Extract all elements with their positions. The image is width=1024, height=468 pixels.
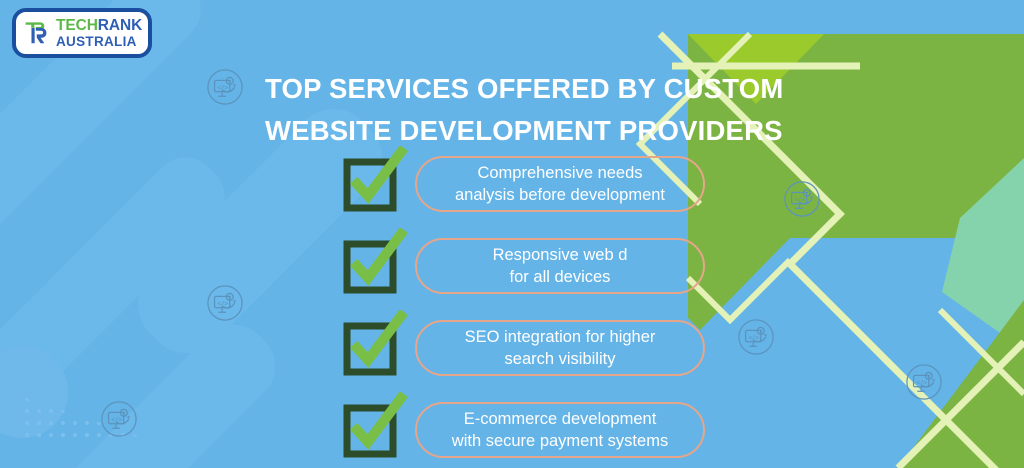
triangular-dot-grid <box>20 396 164 444</box>
checklist-item: Comprehensive needs analysis before deve… <box>345 150 705 218</box>
web-development-code-icon: </> <box>206 284 244 327</box>
service-text-line-1: Comprehensive needs <box>477 162 642 184</box>
web-development-code-icon: </> <box>737 318 775 361</box>
bottom-right-green-wedge <box>898 300 1024 468</box>
checklist-item: SEO integration for higher search visibi… <box>345 314 705 382</box>
web-development-code-icon: </> <box>905 363 943 406</box>
checklist-item: Responsive web d for all devices <box>345 232 705 300</box>
service-text-line-2: with secure payment systems <box>452 430 668 452</box>
svg-text:</>: </> <box>217 85 228 91</box>
checklist-item: E-commerce development with secure payme… <box>345 396 705 464</box>
service-text-line-2: for all devices <box>510 266 611 288</box>
web-development-code-icon: </> <box>100 400 138 443</box>
checkbox-checked-icon <box>345 160 393 208</box>
svg-text:</>: </> <box>111 417 122 423</box>
service-text-line-1: E-commerce development <box>464 408 657 430</box>
service-pill: Responsive web d for all devices <box>415 238 705 294</box>
web-development-code-icon: </> <box>206 68 244 111</box>
techrank-monogram-icon <box>23 18 53 48</box>
mint-diamond-shape <box>942 158 1024 350</box>
services-checklist: Comprehensive needs analysis before deve… <box>345 150 705 464</box>
soft-circle-accent <box>0 346 68 438</box>
heading-line-1: TOP SERVICES OFFERED BY CUSTOM <box>265 68 785 110</box>
service-text-line-1: SEO integration for higher <box>465 326 656 348</box>
checkbox-checked-icon <box>345 242 393 290</box>
logo-tech-text: TECH <box>56 17 98 34</box>
checkbox-checked-icon <box>345 324 393 372</box>
logo-wordmark: TECHRANK AUSTRALIA <box>56 18 142 49</box>
svg-text:</>: </> <box>916 380 927 386</box>
svg-text:</>: </> <box>748 335 759 341</box>
checkbox-checked-icon <box>345 406 393 454</box>
service-pill: E-commerce development with secure payme… <box>415 402 705 458</box>
promo-banner: </> </> <box>0 0 1024 468</box>
service-text-line-2: search visibility <box>505 348 616 370</box>
svg-text:</>: </> <box>217 301 228 307</box>
techrank-australia-logo[interactable]: TECHRANK AUSTRALIA <box>12 8 152 58</box>
logo-rank-text: RANK <box>98 17 142 34</box>
service-text-line-2: analysis before development <box>455 184 665 206</box>
logo-australia-text: AUSTRALIA <box>56 35 142 49</box>
web-development-code-icon: </> <box>783 180 821 223</box>
service-pill: SEO integration for higher search visibi… <box>415 320 705 376</box>
service-pill: Comprehensive needs analysis before deve… <box>415 156 705 212</box>
banner-heading: TOP SERVICES OFFERED BY CUSTOM WEBSITE D… <box>265 68 785 152</box>
olive-wedge-shape <box>820 34 1024 300</box>
service-text-line-1: Responsive web d <box>493 244 628 266</box>
svg-text:</>: </> <box>794 197 805 203</box>
